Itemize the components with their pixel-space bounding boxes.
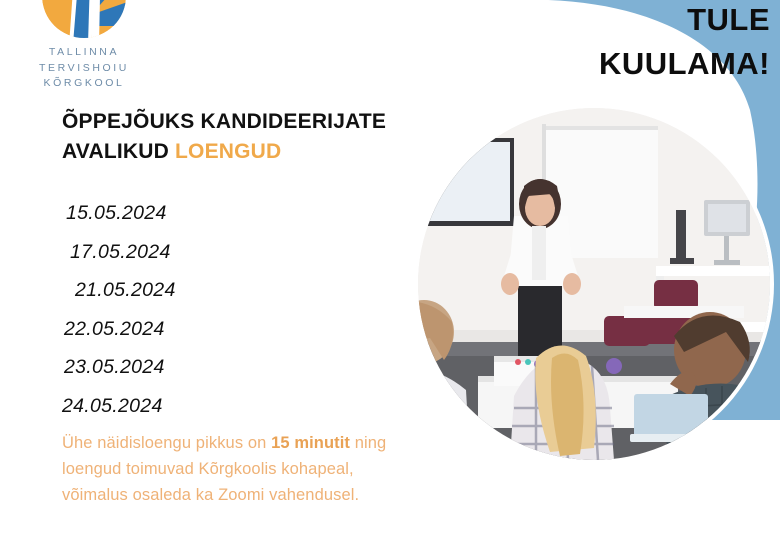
banner-line-1: TULE [470, 0, 770, 42]
page-title: ÕPPEJÕUKS KANDIDEERIJATE AVALIKUD LOENGU… [62, 107, 462, 167]
date-item: 17.05.2024 [62, 233, 292, 272]
classroom-photo [418, 108, 770, 460]
banner-headline: TULE KUULAMA! [470, 0, 770, 86]
note-part-1: Ühe näidisloengu pikkus on [62, 434, 271, 452]
headline-line-2: AVALIKUD LOENGUD [62, 137, 462, 167]
date-item: 21.05.2024 [62, 271, 292, 310]
logo: TALLINNA TERVISHOIU KÕRGKOOL [14, 0, 154, 91]
logo-text-line-2: TERVISHOIU [14, 61, 154, 76]
logo-text-line-1: TALLINNA [14, 45, 154, 60]
note-bold: 15 minutit [271, 434, 350, 452]
banner-line-2: KUULAMA! [470, 42, 770, 86]
date-item: 24.05.2024 [62, 387, 292, 426]
logo-text-line-3: KÕRGKOOL [14, 76, 154, 91]
date-item: 23.05.2024 [62, 348, 292, 387]
poster-canvas: TALLINNA TERVISHOIU KÕRGKOOL TULE KUULAM… [0, 0, 780, 540]
note-paragraph: Ühe näidisloengu pikkus on 15 minutit ni… [62, 430, 422, 508]
dates-list: 15.05.2024 17.05.2024 21.05.2024 22.05.2… [62, 194, 292, 425]
headline-prefix: AVALIKUD [62, 140, 175, 163]
date-item: 15.05.2024 [62, 194, 292, 233]
logo-mark-icon [29, 0, 139, 44]
headline-line-1: ÕPPEJÕUKS KANDIDEERIJATE [62, 107, 462, 137]
headline-accent: LOENGUD [175, 140, 281, 163]
date-item: 22.05.2024 [62, 310, 292, 349]
